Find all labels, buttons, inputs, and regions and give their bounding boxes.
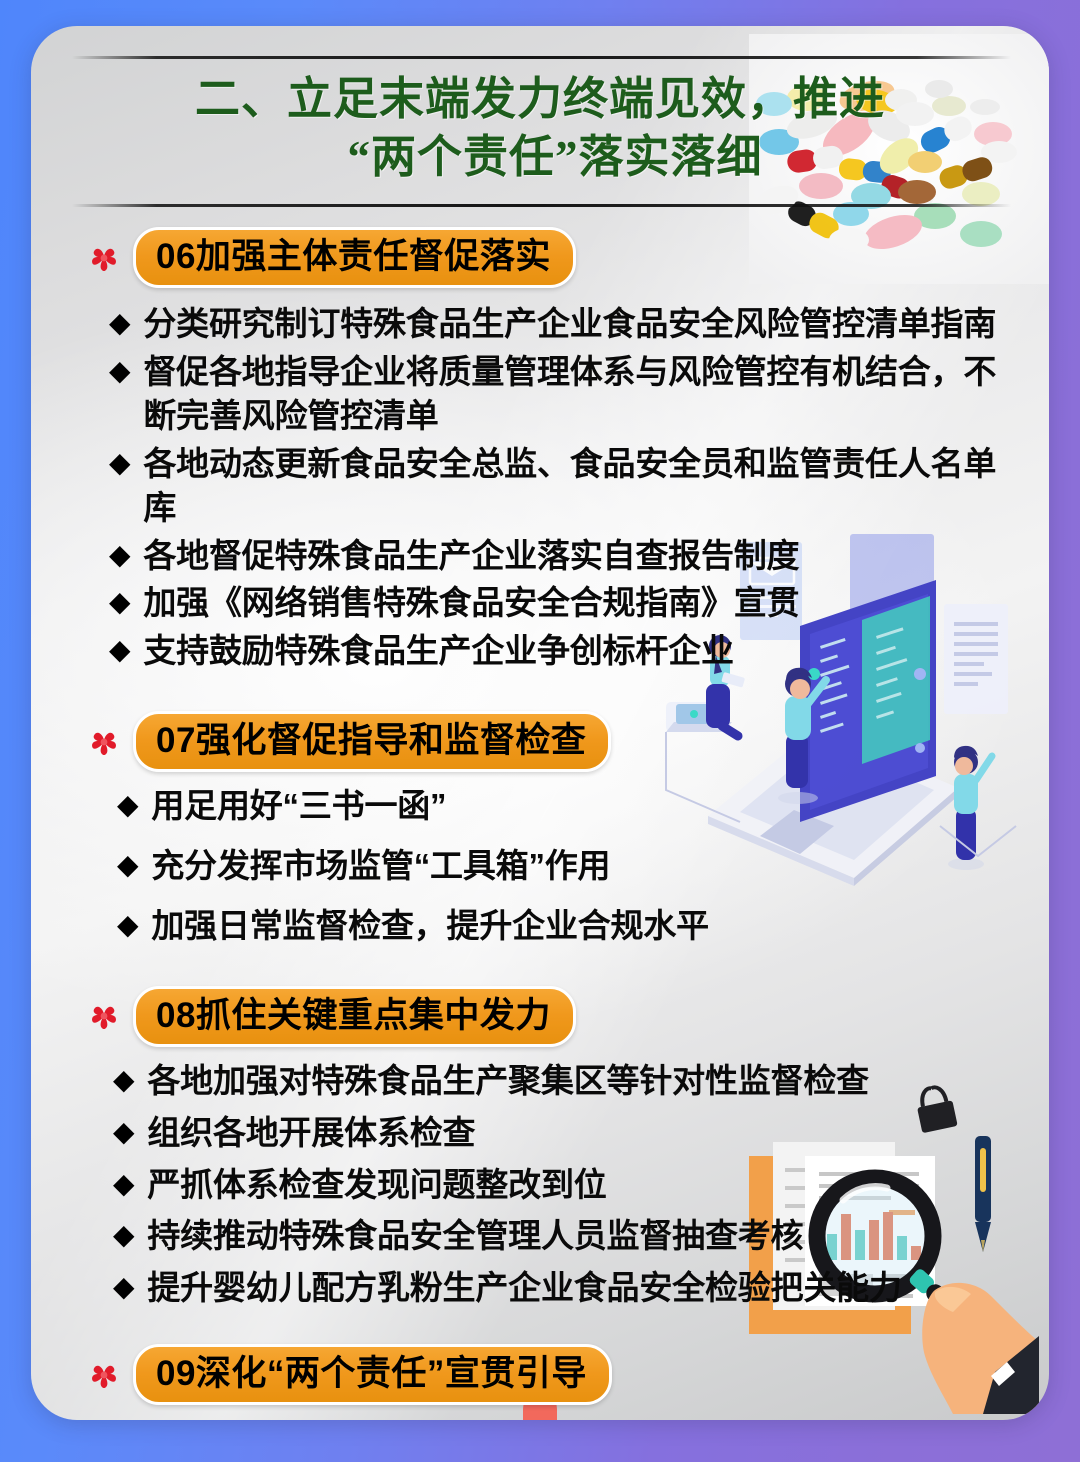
list-item: ◆加强日常监督检查，提升企业合规水平 xyxy=(117,904,1015,948)
flower-icon xyxy=(87,725,121,759)
list-item: ◆严抓体系检查发现问题整改到位 xyxy=(113,1163,1015,1207)
list-item-text: 各地加强对特殊食品生产聚集区等针对性监督检查 xyxy=(147,1059,1015,1103)
list-item: ◆用足用好“三书一函” xyxy=(117,784,1015,828)
diamond-bullet-icon: ◆ xyxy=(117,784,138,825)
diamond-bullet-icon: ◆ xyxy=(109,581,130,622)
list-item-text: 严抓体系检查发现问题整改到位 xyxy=(147,1163,1015,1207)
list-item-text: 组织各地开展体系检查 xyxy=(147,1111,1015,1155)
page-title: 二、立足末端发力终端见效，推进 “两个责任”落实落细 xyxy=(31,59,1049,194)
list-item: ◆加强《网络销售特殊食品安全合规指南》宣贯 xyxy=(109,581,1015,625)
section-07-list: ◆用足用好“三书一函” ◆充分发挥市场监管“工具箱”作用 ◆加强日常监督检查，提… xyxy=(31,784,1049,948)
section-07: 07强化督促指导和监督检查 ◆用足用好“三书一函” ◆充分发挥市场监管“工具箱”… xyxy=(31,711,1049,948)
list-item: ◆各地动态更新食品安全总监、食品安全员和监管责任人名单库 xyxy=(109,442,1015,530)
section-06-title: 06加强主体责任督促落实 xyxy=(133,227,576,288)
diamond-bullet-icon: ◆ xyxy=(109,302,130,343)
flower-icon xyxy=(87,241,121,275)
list-item-text: 充分发挥市场监管“工具箱”作用 xyxy=(151,844,1015,888)
list-item-text: 持续推动特殊食品安全管理人员监督抽查考核 xyxy=(147,1214,1015,1258)
poster-content: 二、立足末端发力终端见效，推进 “两个责任”落实落细 xyxy=(31,26,1049,1420)
section-09-title: 09深化“两个责任”宣贯引导 xyxy=(133,1344,612,1405)
flower-icon xyxy=(87,999,121,1033)
section-07-title: 07强化督促指导和监督检查 xyxy=(133,711,611,772)
section-09: 09深化“两个责任”宣贯引导 ◆深入宣传食品安全“两个责任”2.0版 ◆开展“两… xyxy=(31,1344,1049,1420)
diamond-bullet-icon: ◆ xyxy=(113,1059,134,1100)
section-08: 08抓住关键重点集中发力 ◆各地加强对特殊食品生产聚集区等针对性监督检查 ◆组织… xyxy=(31,986,1049,1310)
list-item-text: 用足用好“三书一函” xyxy=(151,784,1015,828)
title-block: 二、立足末端发力终端见效，推进 “两个责任”落实落细 xyxy=(31,26,1049,207)
diamond-bullet-icon: ◆ xyxy=(117,904,138,945)
list-item: ◆各地加强对特殊食品生产聚集区等针对性监督检查 xyxy=(113,1059,1015,1103)
list-item-text: 各地动态更新食品安全总监、食品安全员和监管责任人名单库 xyxy=(143,442,1015,530)
list-item: ◆督促各地指导企业将质量管理体系与风险管控有机结合，不断完善风险管控清单 xyxy=(109,350,1015,438)
list-item-text: 深入宣传食品安全“两个责任”2.0版 xyxy=(147,1417,1015,1420)
list-item: ◆深入宣传食品安全“两个责任”2.0版 xyxy=(113,1417,1015,1420)
section-06-list: ◆分类研究制订特殊食品生产企业食品安全风险管控清单指南 ◆督促各地指导企业将质量… xyxy=(31,302,1049,673)
diamond-bullet-icon: ◆ xyxy=(113,1266,134,1307)
list-item-text: 分类研究制订特殊食品生产企业食品安全风险管控清单指南 xyxy=(143,302,1015,346)
section-09-list: ◆深入宣传食品安全“两个责任”2.0版 ◆开展“两个责任”大家谈活动 ◆加强制度… xyxy=(31,1417,1049,1420)
diamond-bullet-icon: ◆ xyxy=(117,844,138,885)
title-line-1: 二、立足末端发力终端见效，推进 xyxy=(195,74,885,124)
diamond-bullet-icon: ◆ xyxy=(113,1417,134,1420)
list-item: ◆提升婴幼儿配方乳粉生产企业食品安全检验把关能力 xyxy=(113,1266,1015,1310)
list-item: ◆各地督促特殊食品生产企业落实自查报告制度 xyxy=(109,534,1015,578)
section-08-list: ◆各地加强对特殊食品生产聚集区等针对性监督检查 ◆组织各地开展体系检查 ◆严抓体… xyxy=(31,1059,1049,1310)
list-item-text: 提升婴幼儿配方乳粉生产企业食品安全检验把关能力 xyxy=(147,1266,1015,1310)
diamond-bullet-icon: ◆ xyxy=(113,1111,134,1152)
section-07-header: 07强化督促指导和监督检查 xyxy=(31,711,1049,772)
diamond-bullet-icon: ◆ xyxy=(113,1163,134,1204)
title-line-2: “两个责任”落实落细 xyxy=(77,129,1003,187)
list-item: ◆持续推动特殊食品安全管理人员监督抽查考核 xyxy=(113,1214,1015,1258)
flower-icon xyxy=(87,1358,121,1392)
title-rule-bottom xyxy=(72,204,1011,207)
diamond-bullet-icon: ◆ xyxy=(109,442,130,483)
poster-card: 二、立足末端发力终端见效，推进 “两个责任”落实落细 xyxy=(31,26,1049,1420)
list-item: ◆分类研究制订特殊食品生产企业食品安全风险管控清单指南 xyxy=(109,302,1015,346)
diamond-bullet-icon: ◆ xyxy=(113,1214,134,1255)
list-item-text: 加强日常监督检查，提升企业合规水平 xyxy=(151,904,1015,948)
list-item-text: 支持鼓励特殊食品生产企业争创标杆企业 xyxy=(143,629,1015,673)
section-08-title: 08抓住关键重点集中发力 xyxy=(133,986,576,1047)
list-item: ◆充分发挥市场监管“工具箱”作用 xyxy=(117,844,1015,888)
list-item-text: 加强《网络销售特殊食品安全合规指南》宣贯 xyxy=(143,581,1015,625)
section-09-header: 09深化“两个责任”宣贯引导 xyxy=(31,1344,1049,1405)
list-item-text: 督促各地指导企业将质量管理体系与风险管控有机结合，不断完善风险管控清单 xyxy=(143,350,1015,438)
list-item: ◆支持鼓励特殊食品生产企业争创标杆企业 xyxy=(109,629,1015,673)
diamond-bullet-icon: ◆ xyxy=(109,534,130,575)
section-08-header: 08抓住关键重点集中发力 xyxy=(31,986,1049,1047)
diamond-bullet-icon: ◆ xyxy=(109,629,130,670)
section-06: 06加强主体责任督促落实 ◆分类研究制订特殊食品生产企业食品安全风险管控清单指南… xyxy=(31,227,1049,673)
section-06-header: 06加强主体责任督促落实 xyxy=(31,227,1049,288)
list-item-text: 各地督促特殊食品生产企业落实自查报告制度 xyxy=(143,534,1015,578)
diamond-bullet-icon: ◆ xyxy=(109,350,130,391)
list-item: ◆组织各地开展体系检查 xyxy=(113,1111,1015,1155)
